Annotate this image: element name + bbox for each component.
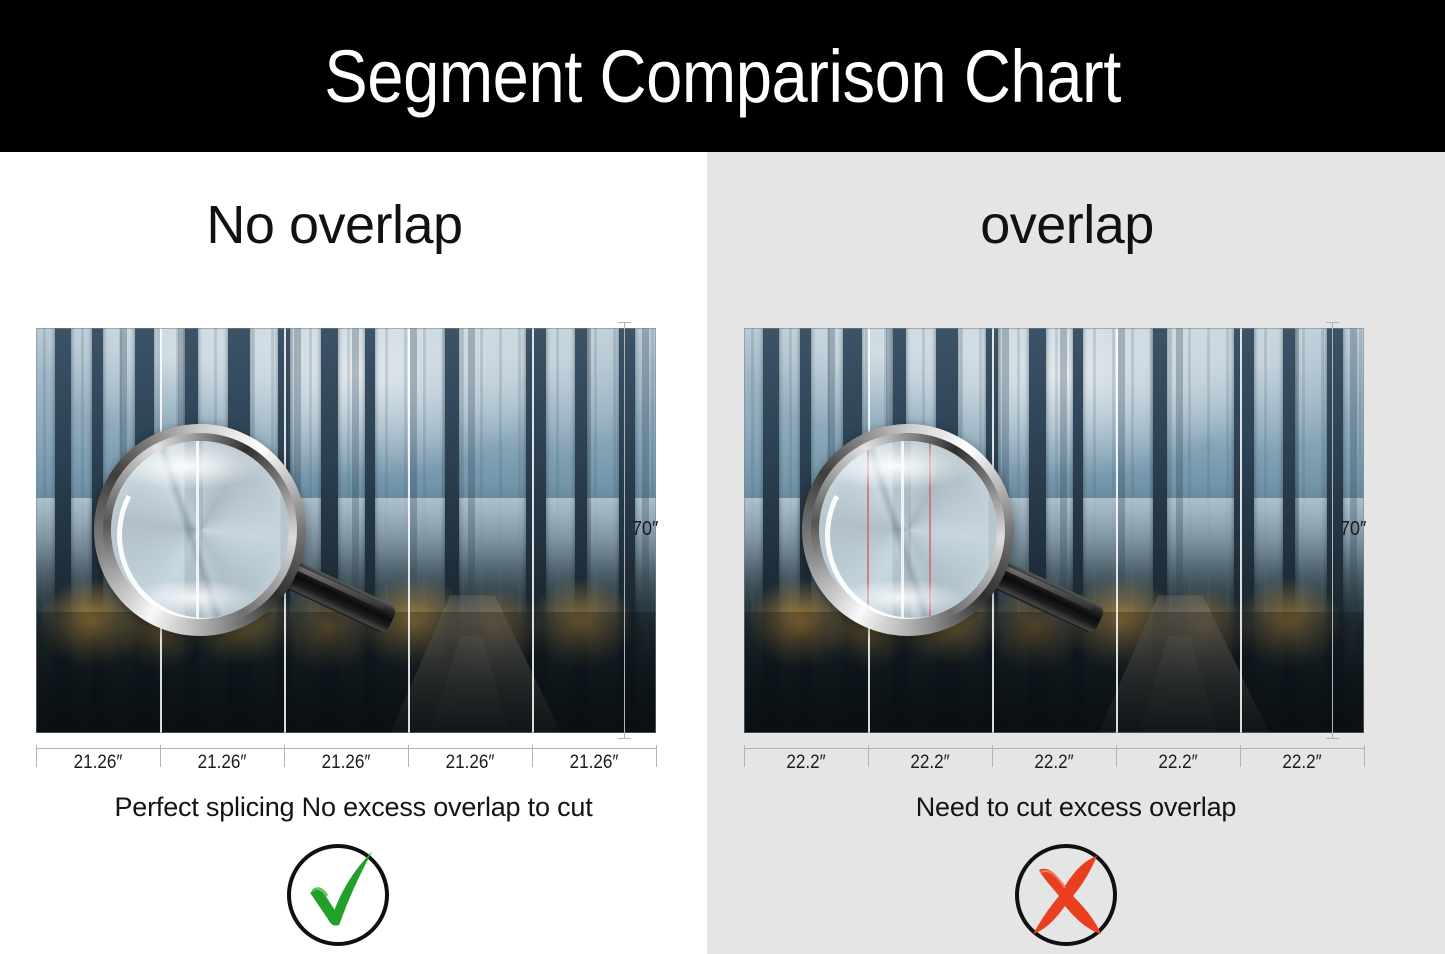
panel-caption-no-overlap: Perfect splicing No excess overlap to cu… <box>0 792 707 823</box>
dimension-tick <box>1326 738 1339 739</box>
panel-caption-overlap: Need to cut excess overlap <box>707 792 1445 823</box>
segment-width-label: 21.26″ <box>290 752 402 774</box>
spliced-photo-overlap <box>744 328 1364 733</box>
comparison-panels: No overlap <box>0 152 1445 954</box>
spliced-photo-no-overlap <box>36 328 656 733</box>
magnifier-icon <box>94 424 322 652</box>
panel-heading-overlap: overlap <box>707 194 1445 256</box>
segment-width-label: 21.26″ <box>538 752 650 774</box>
segment-width-label: 22.2″ <box>1122 752 1234 774</box>
magnifier-icon <box>802 424 1030 652</box>
page-title: Segment Comparison Chart <box>324 34 1121 119</box>
dimension-tick <box>1326 322 1339 323</box>
segment-width-labels: 22.2″ 22.2″ 22.2″ 22.2″ 22.2″ <box>744 752 1364 774</box>
panel-overlap: overlap <box>707 152 1445 954</box>
height-dimension-line <box>1332 322 1333 739</box>
segment-width-label: 22.2″ <box>1246 752 1358 774</box>
magnifier-ring <box>802 424 1014 636</box>
width-dimension-line <box>36 748 656 749</box>
magnifier-lens <box>111 441 289 619</box>
header-banner: Segment Comparison Chart <box>0 0 1445 152</box>
verdict-no-overlap <box>0 844 691 946</box>
panel-no-overlap: No overlap <box>0 152 707 954</box>
cross-icon <box>1017 846 1117 946</box>
check-icon <box>297 844 391 938</box>
dimension-tick <box>618 738 631 739</box>
segment-width-label: 22.2″ <box>874 752 986 774</box>
height-dimension-line <box>624 322 625 739</box>
magnifier-lens <box>819 441 997 619</box>
width-dimension-line <box>744 748 1364 749</box>
magnifier-ring <box>94 424 306 636</box>
segment-width-label: 21.26″ <box>166 752 278 774</box>
height-dimension-label: 70″ <box>632 518 658 541</box>
segment-width-label: 21.26″ <box>42 752 154 774</box>
dimension-tick <box>656 745 657 767</box>
segment-width-label: 21.26″ <box>414 752 526 774</box>
panel-heading-no-overlap: No overlap <box>0 194 707 256</box>
verdict-overlap <box>697 844 1435 946</box>
dimension-tick <box>618 322 631 323</box>
segment-width-labels: 21.26″ 21.26″ 21.26″ 21.26″ 21.26″ <box>36 752 656 774</box>
segment-width-label: 22.2″ <box>750 752 862 774</box>
height-dimension-label: 70″ <box>1340 518 1366 541</box>
verdict-circle <box>1015 844 1117 946</box>
dimension-tick <box>1364 745 1365 767</box>
verdict-circle <box>287 844 389 946</box>
segment-width-label: 22.2″ <box>998 752 1110 774</box>
